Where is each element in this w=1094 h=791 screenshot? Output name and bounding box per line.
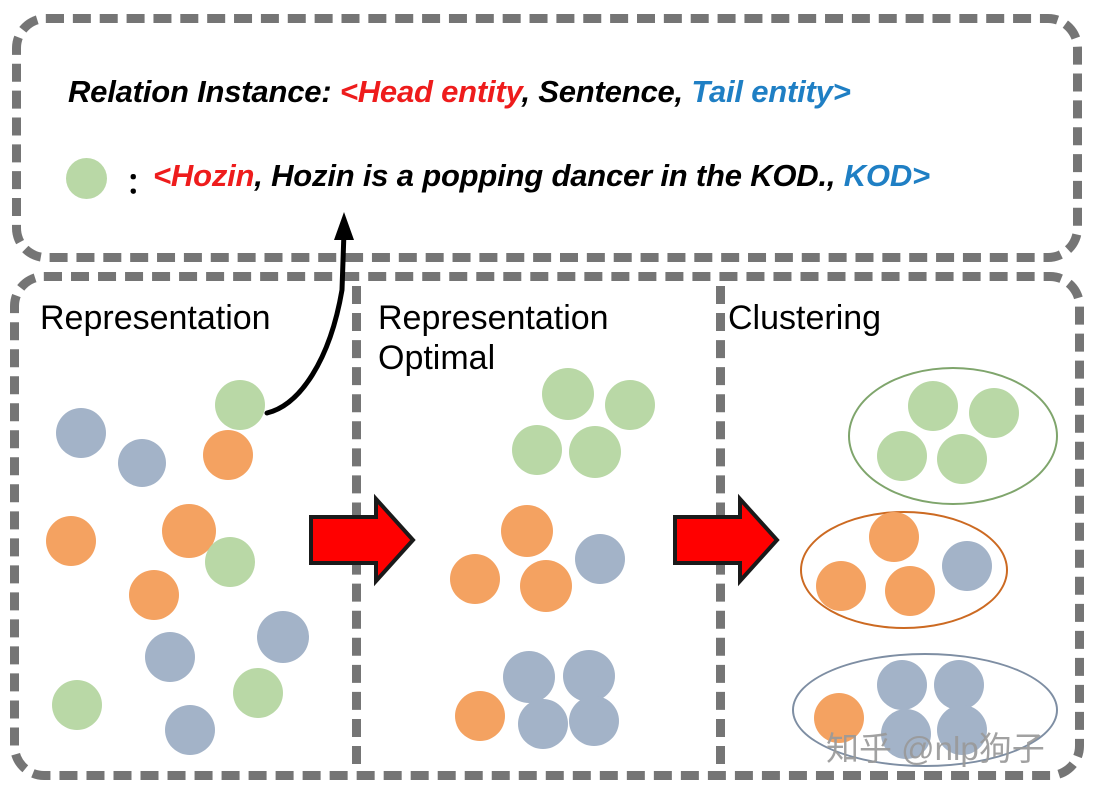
tail-entity-token: Tail entity> (691, 74, 850, 109)
data-point-orange (455, 691, 505, 741)
legend-colon: ： (126, 160, 155, 202)
head-entity-token: <Head entity (340, 74, 522, 109)
relation-instance-panel (12, 14, 1082, 262)
data-point-green (215, 380, 265, 430)
data-point-green (908, 381, 958, 431)
data-point-green (605, 380, 655, 430)
data-point-green (969, 388, 1019, 438)
data-point-green (569, 426, 621, 478)
panel-divider-1 (352, 286, 361, 764)
data-point-blue (575, 534, 625, 584)
example-tail-entity: KOD> (844, 158, 930, 193)
data-point-blue (165, 705, 215, 755)
data-point-green (542, 368, 594, 420)
data-point-green (205, 537, 255, 587)
data-point-blue (563, 650, 615, 702)
data-point-blue (934, 660, 984, 710)
data-point-orange (885, 566, 935, 616)
data-point-orange (869, 512, 919, 562)
panel-divider-2 (716, 286, 725, 764)
relation-instance-definition: Relation Instance: <Head entity, Sentenc… (68, 74, 851, 110)
data-point-green (877, 431, 927, 481)
data-point-blue (518, 699, 568, 749)
column-heading-representation-optimal: Representation Optimal (378, 298, 609, 378)
data-point-green (52, 680, 102, 730)
data-point-blue (503, 651, 555, 703)
data-point-green (512, 425, 562, 475)
data-point-orange (816, 561, 866, 611)
data-point-blue (942, 541, 992, 591)
sentence-token: , Sentence, (521, 74, 691, 109)
data-point-orange (203, 430, 253, 480)
data-point-blue (257, 611, 309, 663)
data-point-blue (56, 408, 106, 458)
data-point-orange (450, 554, 500, 604)
data-point-blue (118, 439, 166, 487)
data-point-green (937, 434, 987, 484)
data-point-orange (129, 570, 179, 620)
data-point-blue (145, 632, 195, 682)
data-point-blue (569, 696, 619, 746)
data-point-green (233, 668, 283, 718)
watermark: 知乎 @nlp狗子 (826, 722, 1045, 770)
example-head-entity: <Hozin (153, 158, 254, 193)
figure-canvas: Relation Instance: <Head entity, Sentenc… (0, 0, 1094, 791)
column-heading-representation: Representation (40, 298, 271, 338)
relation-instance-label: Relation Instance: (68, 74, 340, 109)
data-point-orange (46, 516, 96, 566)
data-point-orange (501, 505, 553, 557)
data-point-blue (877, 660, 927, 710)
relation-instance-example: <Hozin, Hozin is a popping dancer in the… (153, 158, 930, 194)
column-heading-clustering: Clustering (728, 298, 881, 338)
data-point-orange (520, 560, 572, 612)
example-sentence: , Hozin is a popping dancer in the KOD., (254, 158, 843, 193)
legend-green-dot-icon (66, 158, 107, 199)
